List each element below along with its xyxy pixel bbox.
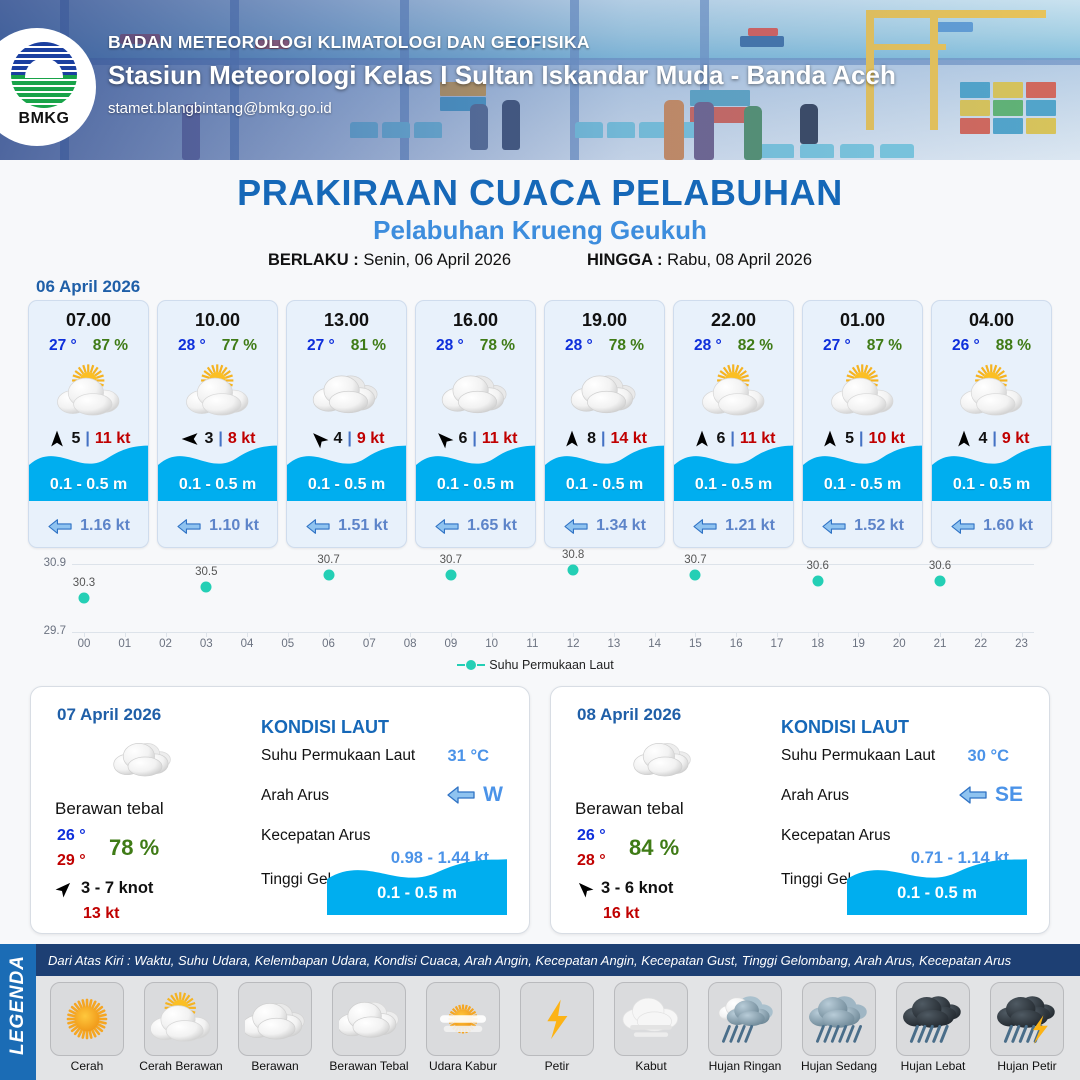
day-temp-min: 26 ° [57, 827, 86, 845]
chart-x-tick-label: 13 [608, 638, 621, 650]
sunny-icon [50, 982, 124, 1056]
weather-condition-icon [932, 359, 1051, 425]
bmkg-emblem-icon [11, 42, 77, 108]
day-date: 08 April 2026 [577, 705, 681, 725]
chart-x-tick-label: 16 [730, 638, 743, 650]
wave-height: 0.1 - 0.5 m [287, 476, 406, 494]
berlaku-value: Senin, 06 April 2026 [363, 251, 511, 269]
overcast-icon [332, 982, 406, 1056]
day-temp-max: 29 ° [57, 852, 86, 870]
chart-data-point [935, 576, 946, 587]
berlaku-group: BERLAKU : Senin, 06 April 2026 [268, 251, 511, 270]
forecast-temperature: 27 ° [307, 337, 335, 355]
forecast-temp-humidity-row: 26 ° 88 % [932, 337, 1051, 355]
forecast-current-row: 1.34 kt [545, 517, 664, 535]
day-humidity: 84 % [629, 835, 679, 861]
legend-items-row: Cerah Cerah Berawan [36, 976, 1080, 1080]
legend-item: Berawan Tebal [322, 982, 416, 1073]
forecast-time: 16.00 [416, 310, 535, 331]
chart-x-tick-label: 18 [811, 638, 824, 650]
day-temp-min: 26 ° [577, 827, 606, 845]
current-speed-label: Kecepatan Arus [781, 827, 890, 845]
sst-label: Suhu Permukaan Laut [261, 747, 415, 765]
forecast-time: 19.00 [545, 310, 664, 331]
current-direction-value: W [483, 783, 503, 807]
forecast-time: 04.00 [932, 310, 1051, 331]
page-subtitle: Pelabuhan Krueng Geukuh [0, 215, 1080, 246]
legend-item: Udara Kabur [416, 982, 510, 1073]
legend-item-label: Kabut [635, 1060, 666, 1073]
current-speed: 1.34 kt [596, 517, 646, 535]
chart-data-point [690, 570, 701, 581]
forecast-current-row: 1.60 kt [932, 517, 1051, 535]
current-speed-label: Kecepatan Arus [261, 827, 370, 845]
day-weather-icon [623, 731, 703, 787]
chart-x-tick-label: 10 [485, 638, 498, 650]
forecast-humidity: 87 % [867, 337, 902, 355]
forecast-time: 22.00 [674, 310, 793, 331]
forecast-temperature: 26 ° [952, 337, 980, 355]
current-direction-arrow-icon [821, 518, 847, 535]
forecast-card-row: 07.00 27 ° 87 % 5 | 11 kt [28, 300, 1052, 548]
chart-x-tick-label: 15 [689, 638, 702, 650]
forecast-humidity: 87 % [93, 337, 128, 355]
forecast-temperature: 28 ° [436, 337, 464, 355]
day-wind-direction-arrow-icon [575, 879, 594, 898]
legend-item: Hujan Lebat [886, 982, 980, 1073]
chart-data-point [812, 576, 823, 587]
chart-data-point [201, 581, 212, 592]
chart-x-tick-label: 01 [118, 638, 131, 650]
current-speed: 1.52 kt [854, 517, 904, 535]
forecast-humidity: 81 % [351, 337, 386, 355]
forecast-current-row: 1.16 kt [29, 517, 148, 535]
legend-item-label: Berawan [251, 1060, 298, 1073]
day-weather-icon [103, 731, 183, 787]
current-speed: 1.10 kt [209, 517, 259, 535]
day-current-arrow-icon [958, 785, 988, 805]
chart-x-tick-label: 19 [852, 638, 865, 650]
chart-point-label: 30.7 [440, 554, 462, 566]
chart-legend-label: Suhu Permukaan Laut [489, 658, 613, 672]
current-direction-arrow-icon [176, 518, 202, 535]
wave-height: 0.1 - 0.5 m [416, 476, 535, 494]
forecast-humidity: 78 % [609, 337, 644, 355]
chart-x-tick-label: 00 [78, 638, 91, 650]
legend-item-label: Cerah Berawan [139, 1060, 222, 1073]
page-title: PRAKIRAAN CUACA PELABUHAN [0, 172, 1080, 214]
legend-item-label: Hujan Petir [997, 1060, 1056, 1073]
forecast-current-row: 1.65 kt [416, 517, 535, 535]
daily-forecast-panel: 08 April 2026 Berawan tebal 26 ° 28 ° 84… [550, 686, 1050, 934]
hingga-group: HINGGA : Rabu, 08 April 2026 [587, 251, 812, 270]
current-speed: 1.65 kt [467, 517, 517, 535]
chart-x-tick-label: 12 [567, 638, 580, 650]
wave-height: 0.1 - 0.5 m [803, 476, 922, 494]
daily-forecast-panel: 07 April 2026 Berawan tebal 26 ° 29 ° 78… [30, 686, 530, 934]
bmkg-logo-text: BMKG [11, 110, 77, 128]
chart-point-label: 30.6 [807, 560, 829, 572]
current-speed: 1.21 kt [725, 517, 775, 535]
forecast-humidity: 78 % [480, 337, 515, 355]
forecast-humidity: 82 % [738, 337, 773, 355]
chart-x-tick-label: 04 [241, 638, 254, 650]
chart-plot-area: 30.330.530.730.730.830.730.630.6 [72, 564, 1034, 632]
weather-condition-icon [416, 359, 535, 425]
chart-point-label: 30.5 [195, 566, 217, 578]
chart-point-label: 30.7 [684, 554, 706, 566]
forecast-card: 16.00 28 ° 78 % [415, 300, 536, 548]
weather-condition-icon [674, 359, 793, 425]
weather-condition-icon [29, 359, 148, 425]
legend-item: Petir [510, 982, 604, 1073]
fog-icon [614, 982, 688, 1056]
chart-legend-marker-icon [466, 660, 476, 670]
hingga-label: HINGGA : [587, 251, 662, 269]
chart-x-tick-label: 09 [444, 638, 457, 650]
wave-height: 0.1 - 0.5 m [158, 476, 277, 494]
current-speed: 1.60 kt [983, 517, 1033, 535]
forecast-humidity: 77 % [222, 337, 257, 355]
chart-y-tick-label: 30.9 [28, 557, 66, 569]
heavy-rain-icon [896, 982, 970, 1056]
chart-point-label: 30.8 [562, 549, 584, 561]
current-direction-label: Arah Arus [261, 787, 329, 805]
forecast-date-label: 06 April 2026 [36, 277, 140, 297]
forecast-time: 07.00 [29, 310, 148, 331]
current-direction-value: SE [995, 783, 1023, 807]
forecast-temperature: 27 ° [49, 337, 77, 355]
weather-condition-icon [158, 359, 277, 425]
day-condition: Berawan tebal [55, 799, 164, 819]
day-date: 07 April 2026 [57, 705, 161, 725]
legend-item: Hujan Petir [980, 982, 1074, 1073]
forecast-current-row: 1.10 kt [158, 517, 277, 535]
chart-x-tick-label: 22 [974, 638, 987, 650]
chart-data-point [323, 570, 334, 581]
legend-item-label: Hujan Sedang [801, 1060, 877, 1073]
forecast-time: 01.00 [803, 310, 922, 331]
chart-x-tick-label: 11 [526, 638, 538, 650]
moderate-rain-icon [802, 982, 876, 1056]
legend-note-bar: Dari Atas Kiri : Waktu, Suhu Udara, Kele… [36, 944, 1080, 976]
legend-side-strip: LEGENDA [0, 944, 36, 1080]
forecast-card: 10.00 28 ° 77 % 3 | 8 kt [157, 300, 278, 548]
day-wind-direction-arrow-icon [55, 879, 74, 898]
forecast-card: 01.00 27 ° 87 % 5 | 10 kt [802, 300, 923, 548]
current-direction-arrow-icon [692, 518, 718, 535]
forecast-card: 07.00 27 ° 87 % 5 | 11 kt [28, 300, 149, 548]
forecast-humidity: 88 % [996, 337, 1031, 355]
station-name: Stasiun Meteorologi Kelas I Sultan Iskan… [108, 60, 896, 91]
chart-data-point [445, 570, 456, 581]
day-condition: Berawan tebal [575, 799, 684, 819]
legend-section: LEGENDA Dari Atas Kiri : Waktu, Suhu Uda… [0, 944, 1080, 1080]
forecast-temp-humidity-row: 27 ° 81 % [287, 337, 406, 355]
wave-height: 0.1 - 0.5 m [932, 476, 1051, 494]
chart-x-tick-label: 20 [893, 638, 906, 650]
forecast-current-row: 1.51 kt [287, 517, 406, 535]
forecast-temp-humidity-row: 27 ° 87 % [29, 337, 148, 355]
day-wind-range: 3 - 7 knot [81, 879, 153, 898]
day-current-direction-group: SE [958, 783, 1023, 807]
day-humidity: 78 % [109, 835, 159, 861]
sst-chart: 30.330.530.730.730.830.730.630.6 30.929.… [28, 558, 1052, 678]
day-wind-row: 3 - 7 knot [55, 879, 153, 898]
forecast-time: 10.00 [158, 310, 277, 331]
day-wave-value: 0.1 - 0.5 m [847, 884, 1027, 903]
chart-data-point [79, 593, 90, 604]
weather-condition-icon [803, 359, 922, 425]
sea-condition-title: KONDISI LAUT [781, 717, 909, 738]
current-direction-arrow-icon [47, 518, 73, 535]
legend-item: Cerah Berawan [134, 982, 228, 1073]
sst-label: Suhu Permukaan Laut [781, 747, 935, 765]
chart-x-tick-label: 06 [322, 638, 335, 650]
legend-item: Hujan Ringan [698, 982, 792, 1073]
partly-cloudy-icon [144, 982, 218, 1056]
legend-item-label: Berawan Tebal [329, 1060, 408, 1073]
chart-point-label: 30.3 [73, 577, 95, 589]
day-gust: 13 kt [83, 905, 119, 923]
sst-value: 30 °C [968, 747, 1009, 766]
validity-row: BERLAKU : Senin, 06 April 2026 HINGGA : … [0, 251, 1080, 270]
chart-x-tick-label: 03 [200, 638, 213, 650]
forecast-time: 13.00 [287, 310, 406, 331]
wave-height: 0.1 - 0.5 m [545, 476, 664, 494]
chart-legend: Suhu Permukaan Laut [28, 658, 1052, 672]
forecast-card: 13.00 27 ° 81 % [286, 300, 407, 548]
legend-item-label: Udara Kabur [429, 1060, 497, 1073]
legend-side-label: LEGENDA [7, 937, 29, 1073]
day-wind-row: 3 - 6 knot [575, 879, 673, 898]
current-direction-arrow-icon [950, 518, 976, 535]
current-direction-arrow-icon [434, 518, 460, 535]
chart-point-label: 30.6 [929, 560, 951, 572]
legend-item: Hujan Sedang [792, 982, 886, 1073]
chart-y-tick-label: 29.7 [28, 625, 66, 637]
forecast-temperature: 28 ° [178, 337, 206, 355]
forecast-temp-humidity-row: 28 ° 78 % [545, 337, 664, 355]
legend-item-label: Hujan Ringan [709, 1060, 782, 1073]
forecast-card: 04.00 26 ° 88 % 4 | 9 kt [931, 300, 1052, 548]
chart-x-tick-label: 05 [281, 638, 294, 650]
legend-item-label: Hujan Lebat [901, 1060, 966, 1073]
lightning-icon [520, 982, 594, 1056]
day-gust: 16 kt [603, 905, 639, 923]
forecast-card: 22.00 28 ° 82 % 6 | 11 kt [673, 300, 794, 548]
forecast-temp-humidity-row: 28 ° 82 % [674, 337, 793, 355]
current-direction-arrow-icon [305, 518, 331, 535]
wave-height: 0.1 - 0.5 m [674, 476, 793, 494]
chart-x-tick-label: 23 [1015, 638, 1028, 650]
current-direction-label: Arah Arus [781, 787, 849, 805]
cloudy-icon [238, 982, 312, 1056]
chart-x-tick-label: 02 [159, 638, 172, 650]
legend-item: Cerah [40, 982, 134, 1073]
forecast-temperature: 28 ° [565, 337, 593, 355]
chart-x-axis [72, 632, 1034, 633]
chart-x-tick-label: 17 [771, 638, 784, 650]
forecast-current-row: 1.52 kt [803, 517, 922, 535]
station-email: stamet.blangbintang@bmkg.go.id [108, 100, 896, 117]
chart-data-point [568, 564, 579, 575]
current-speed: 1.16 kt [80, 517, 130, 535]
sst-value: 31 °C [448, 747, 489, 766]
legend-item-label: Petir [545, 1060, 570, 1073]
page-header: BMKG BADAN METEOROLOGI KLIMATOLOGI DAN G… [0, 0, 1080, 160]
chart-x-tick-label: 08 [404, 638, 417, 650]
forecast-card: 19.00 28 ° 78 % [544, 300, 665, 548]
berlaku-label: BERLAKU : [268, 251, 359, 269]
day-wind-range: 3 - 6 knot [601, 879, 673, 898]
daily-forecast-panels: 07 April 2026 Berawan tebal 26 ° 29 ° 78… [30, 686, 1050, 934]
forecast-temp-humidity-row: 28 ° 78 % [416, 337, 535, 355]
legend-item-label: Cerah [71, 1060, 104, 1073]
forecast-temperature: 27 ° [823, 337, 851, 355]
chart-x-tick-label: 07 [363, 638, 376, 650]
current-speed: 1.51 kt [338, 517, 388, 535]
day-current-direction-group: W [446, 783, 503, 807]
day-temp-max: 28 ° [577, 852, 606, 870]
forecast-current-row: 1.21 kt [674, 517, 793, 535]
day-wave-value: 0.1 - 0.5 m [327, 884, 507, 903]
agency-name: BADAN METEOROLOGI KLIMATOLOGI DAN GEOFIS… [108, 32, 896, 53]
chart-x-tick-label: 21 [934, 638, 947, 650]
forecast-temp-humidity-row: 28 ° 77 % [158, 337, 277, 355]
sea-condition-title: KONDISI LAUT [261, 717, 389, 738]
day-current-arrow-icon [446, 785, 476, 805]
forecast-temp-humidity-row: 27 ° 87 % [803, 337, 922, 355]
haze-icon [426, 982, 500, 1056]
thunderstorm-icon [990, 982, 1064, 1056]
header-text-block: BADAN METEOROLOGI KLIMATOLOGI DAN GEOFIS… [108, 32, 896, 117]
wave-height: 0.1 - 0.5 m [29, 476, 148, 494]
light-rain-icon [708, 982, 782, 1056]
legend-item: Kabut [604, 982, 698, 1073]
current-direction-arrow-icon [563, 518, 589, 535]
chart-point-label: 30.7 [317, 554, 339, 566]
hingga-value: Rabu, 08 April 2026 [667, 251, 812, 269]
weather-condition-icon [545, 359, 664, 425]
weather-condition-icon [287, 359, 406, 425]
legend-note-text: Dari Atas Kiri : Waktu, Suhu Udara, Kele… [48, 953, 1011, 968]
legend-item: Berawan [228, 982, 322, 1073]
forecast-temperature: 28 ° [694, 337, 722, 355]
chart-x-tick-label: 14 [648, 638, 661, 650]
